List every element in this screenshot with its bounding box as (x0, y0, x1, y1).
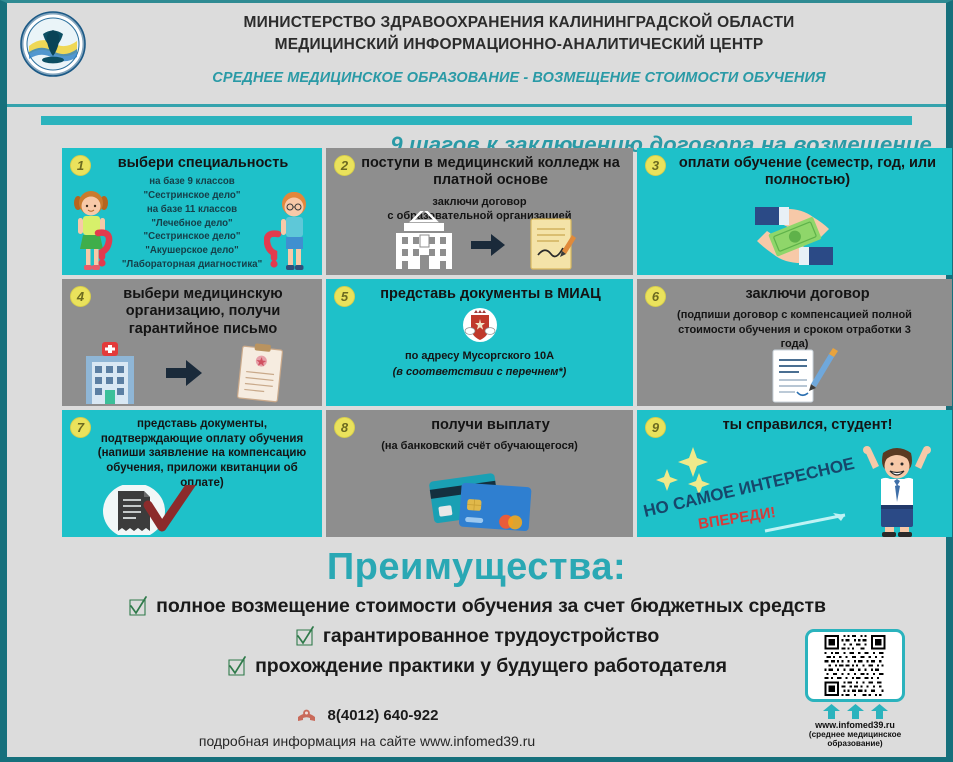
step-card-8[interactable]: 8 получи выплату (на банковский счёт обу… (326, 410, 633, 537)
poster-subtitle: СРЕДНЕЕ МЕДИЦИНСКОЕ ОБРАЗОВАНИЕ - ВОЗМЕЩ… (102, 70, 936, 86)
step-card-6[interactable]: 6 заключи договор (подпиши договор с ком… (637, 279, 952, 406)
ministry-title-line2: МЕДИЦИНСКИЙ ИНФОРМАЦИОННО-АНАЛИТИЧЕСКИЙ … (102, 34, 936, 56)
phone-number[interactable]: 8(4012) 640-922 (328, 707, 439, 724)
advantages-title: Преимущества: (7, 546, 946, 589)
step-title: оплати обучение (семестр, год, или полно… (645, 155, 944, 190)
contract-line-1: заключи договор (334, 195, 625, 210)
arrow-up-icon (847, 704, 864, 719)
step-subtitle: (подпиши договор с компенсацией полной с… (645, 308, 944, 352)
step-number-badge: 7 (70, 417, 91, 438)
college-building-arrow-contract-icon (326, 211, 633, 273)
bank-cards-icon (326, 463, 633, 535)
step-number-badge: 2 (334, 155, 355, 176)
advantages-list: полное возмещение стоимости обучения за … (37, 595, 917, 685)
slogan-line-2: ВПЕРЕДИ! (697, 504, 777, 533)
qr-code-icon (811, 635, 899, 696)
advantage-text: полное возмещение стоимости обучения за … (156, 595, 826, 618)
step-title: выбери медицинскую организацию, получи г… (70, 286, 314, 338)
steps-row-3: 7 представь документы, подтверждающие оп… (62, 410, 952, 537)
contract-with-pen-icon (637, 348, 952, 404)
celebrating-student-and-stars-icon: НО САМОЕ ИНТЕРЕСНОЕ ВПЕРЕДИ! (637, 445, 952, 537)
advantage-text: гарантированное трудоустройство (323, 625, 659, 648)
arrow-up-icon (823, 704, 840, 719)
qr-code[interactable] (805, 629, 905, 702)
step-card-5[interactable]: 5 представь документы в МИАЦ по адресу М… (326, 279, 633, 406)
kaliningrad-coat-of-arms-icon (463, 307, 497, 343)
step-number-badge: 4 (70, 286, 91, 307)
miac-address: по адресу Мусоргского 10А (334, 349, 625, 364)
step-card-9[interactable]: 9 ты справился, студент! НО САМОЕ ИНТЕРЕ… (637, 410, 952, 537)
hands-exchanging-money-icon (637, 201, 952, 273)
up-arrows (805, 704, 905, 719)
step-number-badge: 9 (645, 417, 666, 438)
divider-band (41, 116, 912, 125)
poster-header: МИНИСТЕРСТВО ЗДРАВООХРАНЕНИЯ КАЛИНИНГРАД… (7, 3, 946, 107)
step-number-badge: 8 (334, 417, 355, 438)
phone-row: 8(4012) 640-922 (7, 707, 727, 724)
advantage-item: гарантированное трудоустройство (37, 625, 917, 648)
qr-block: www.infomed39.ru (среднее медицинское об… (805, 629, 905, 749)
checkmark-icon (295, 626, 314, 647)
steps-row-2: 4 выбери медицинскую организацию, получи… (62, 279, 952, 406)
step-title: представь документы в МИАЦ (334, 286, 625, 303)
step-card-3[interactable]: 3 оплати обучение (семестр, год, или пол… (637, 148, 952, 275)
step-number-badge: 1 (70, 155, 91, 176)
miac-address-note: (в соответствии с перечнем*) (334, 365, 625, 380)
advantage-item: прохождение практики у будущего работода… (37, 655, 917, 678)
website-line[interactable]: подробная информация на сайте www.infome… (7, 733, 727, 749)
step-number-badge: 6 (645, 286, 666, 307)
step-title: ты справился, студент! (645, 417, 944, 434)
qr-url[interactable]: www.infomed39.ru (805, 720, 905, 730)
telephone-icon (296, 708, 317, 723)
hospital-arrow-letter-icon (62, 342, 322, 404)
step-title: заключи договор (645, 286, 944, 303)
step-title: выбери специальность (70, 155, 314, 172)
step-card-4[interactable]: 4 выбери медицинскую организацию, получи… (62, 279, 322, 406)
step-number-badge: 3 (645, 155, 666, 176)
step-title: получи выплату (334, 417, 625, 434)
step-title: поступи в медицинский колледж на платной… (334, 155, 625, 190)
ministry-seal-logo (19, 10, 87, 78)
step-title: представь документы, подтверждающие опла… (70, 417, 314, 491)
step-card-7[interactable]: 7 представь документы, подтверждающие оп… (62, 410, 322, 537)
checkmark-icon (128, 596, 147, 617)
checkmark-icon (227, 656, 246, 677)
advantage-text: прохождение практики у будущего работода… (255, 655, 727, 678)
step-card-1[interactable]: 1 выбери специальность на базе 9 классов… (62, 148, 322, 275)
step-card-2[interactable]: 2 поступи в медицинский колледж на платн… (326, 148, 633, 275)
qr-caption: (среднее медицинское образование) (805, 730, 905, 749)
ministry-title-line1: МИНИСТЕРСТВО ЗДРАВООХРАНЕНИЯ КАЛИНИНГРАД… (102, 12, 936, 34)
receipt-with-checkmark-icon (62, 485, 322, 535)
step-number-badge: 5 (334, 286, 355, 307)
arrow-up-icon (871, 704, 888, 719)
advantage-item: полное возмещение стоимости обучения за … (37, 595, 917, 618)
steps-grid: 1 выбери специальность на базе 9 классов… (62, 148, 952, 537)
boy-student-icon (264, 187, 322, 275)
infographic-poster: МИНИСТЕРСТВО ЗДРАВООХРАНЕНИЯ КАЛИНИНГРАД… (0, 0, 953, 762)
girl-student-icon (64, 187, 124, 275)
step-subtitle: (на банковский счёт обучающегося) (334, 439, 625, 454)
steps-row-1: 1 выбери специальность на базе 9 классов… (62, 148, 952, 275)
